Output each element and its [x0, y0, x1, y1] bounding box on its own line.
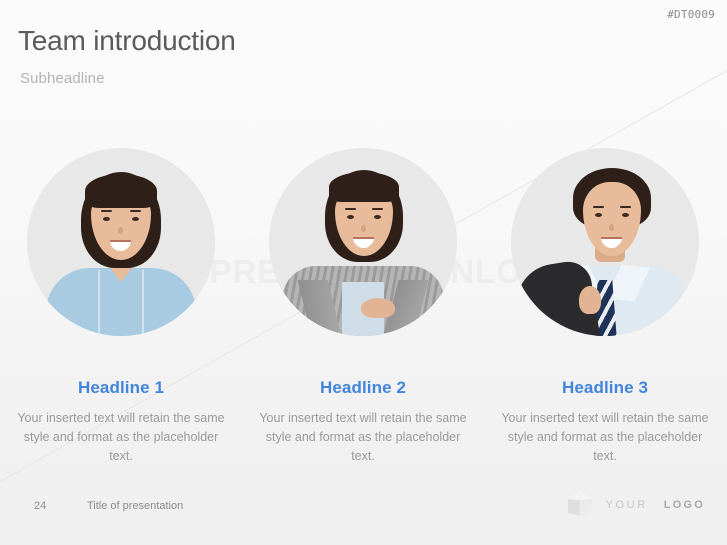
logo-word-logo: LOGO	[664, 499, 705, 511]
logo: YOUR LOGO	[567, 491, 705, 519]
headline-2: Headline 2	[254, 378, 472, 398]
portrait-man-striped-tie	[511, 148, 699, 336]
page-title: Team introduction	[18, 26, 236, 57]
logo-word-your: YOUR	[606, 499, 648, 511]
headline-3: Headline 3	[496, 378, 714, 398]
headline-1: Headline 1	[12, 378, 230, 398]
avatar[interactable]	[27, 148, 215, 336]
portrait-woman-gray-blazer	[269, 148, 457, 336]
page-subheadline: Subheadline	[20, 70, 105, 87]
avatar[interactable]	[511, 148, 699, 336]
body-text-2: Your inserted text will retain the same …	[254, 409, 472, 466]
team-text-3: Headline 3 Your inserted text will retai…	[484, 378, 726, 466]
body-text-1: Your inserted text will retain the same …	[12, 409, 230, 466]
team-text-row: Headline 1 Your inserted text will retai…	[0, 378, 727, 466]
avatar[interactable]	[269, 148, 457, 336]
team-member-1	[0, 148, 242, 336]
presentation-title-footer: Title of presentation	[87, 500, 183, 512]
team-photos-row	[0, 148, 727, 336]
cube-icon	[567, 491, 593, 519]
page-number: 24	[34, 500, 46, 512]
team-member-2	[242, 148, 484, 336]
presentation-slide: #DT0009 Team introduction Subheadline PR…	[0, 0, 727, 545]
portrait-woman-blue-shirt	[27, 148, 215, 336]
body-text-3: Your inserted text will retain the same …	[496, 409, 714, 466]
team-text-2: Headline 2 Your inserted text will retai…	[242, 378, 484, 466]
slide-code-label: #DT0009	[667, 8, 715, 21]
team-text-1: Headline 1 Your inserted text will retai…	[0, 378, 242, 466]
team-member-3	[484, 148, 726, 336]
